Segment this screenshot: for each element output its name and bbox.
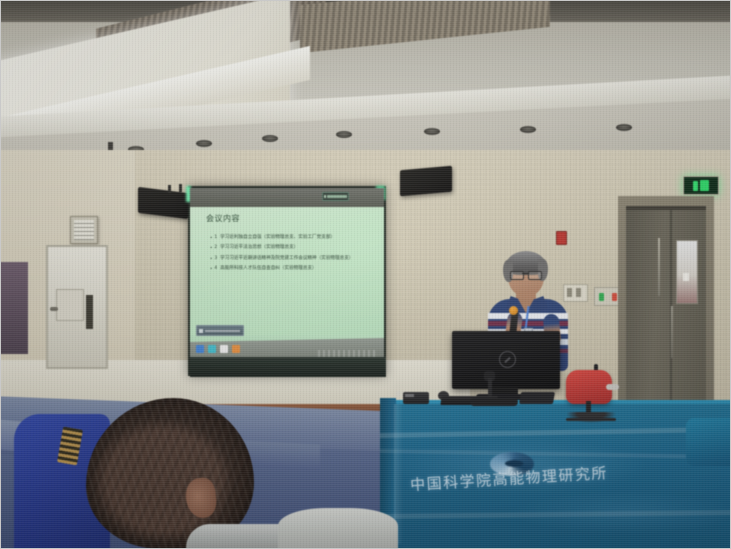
downlight-icon — [336, 131, 352, 138]
desk-phone[interactable] — [403, 392, 429, 404]
door-panel — [56, 289, 84, 321]
bullet-number: 1 — [214, 236, 217, 241]
wall-speaker-right — [400, 166, 452, 197]
desk-monitor — [452, 331, 560, 389]
list-item: • 1 学习近利独自立自强（实验物理总支、实验工厂党支部） — [210, 236, 382, 241]
chair-base — [566, 412, 616, 423]
presentation-top-bar — [190, 188, 384, 208]
bullet-text: 学习习近平法治思想（实验物理总支） — [220, 246, 298, 251]
bullet-text: 学习习近平近期讲话精神及院党建工作会议精神（实验物理总支） — [220, 257, 353, 262]
fire-alarm-icon[interactable] — [556, 231, 567, 245]
bullet-marker: • — [210, 236, 212, 240]
system-tray[interactable] — [318, 350, 376, 357]
downlight-icon — [616, 124, 632, 131]
bullet-text: 学习近利独自立自强（实验物理总支、实验工厂党支部） — [220, 236, 335, 241]
speaker-bracket — [168, 185, 171, 193]
taskbar-icon-3[interactable] — [220, 345, 228, 353]
presentation-tool-badge[interactable] — [322, 192, 349, 201]
microphone-base — [470, 398, 518, 406]
bullet-marker: • — [210, 246, 212, 250]
downlight-icon — [196, 140, 212, 147]
taskbar-icons[interactable] — [196, 345, 240, 353]
downlight-icon — [424, 128, 440, 135]
speaker-bracket — [179, 184, 182, 192]
slide-bullet-list: • 1 学习近利独自立自强（实验物理总支、实验工厂党支部） • 2 学习习近平法… — [210, 236, 382, 278]
door-window — [676, 240, 698, 304]
bullet-number: 4 — [214, 267, 217, 272]
bullet-marker: • — [210, 257, 212, 261]
audience-member-foreground — [278, 508, 398, 549]
slide-title: 会议内容 — [206, 213, 240, 224]
chair-armrest — [606, 384, 619, 390]
left-curtain — [0, 262, 28, 354]
downlight-icon — [520, 126, 536, 133]
list-item: • 3 学习习近平近期讲话精神及院党建工作会议精神（实验物理总支） — [210, 257, 382, 262]
list-item: • 4 高能所科技人才队伍自查自纠（实验物理总支） — [210, 267, 382, 272]
door-handle-icon[interactable] — [658, 238, 660, 296]
screen-bottom-shadow — [190, 357, 386, 377]
downlight-icon — [262, 135, 278, 142]
meeting-room-door[interactable] — [626, 206, 706, 432]
taskbar-icon-4[interactable] — [232, 345, 240, 353]
desk-equipment — [519, 392, 555, 404]
running-man-icon — [693, 181, 698, 191]
glasses-bridge — [522, 273, 528, 274]
door-handle-icon[interactable] — [50, 307, 58, 311]
taskbar-icon-1[interactable] — [196, 345, 204, 353]
exit-sign — [683, 176, 719, 195]
taskbar-icon-2[interactable] — [208, 345, 216, 353]
dell-logo-icon — [499, 351, 516, 368]
window-title-bar — [205, 330, 240, 332]
left-side-door[interactable] — [46, 245, 108, 369]
side-chair[interactable] — [686, 418, 731, 466]
microphone-head-icon — [509, 306, 518, 315]
glasses-icon — [528, 271, 542, 280]
bullet-number: 2 — [214, 246, 217, 251]
door-gap — [86, 295, 93, 329]
window-icon — [199, 329, 203, 333]
conference-room-photo: 会议内容 • 1 学习近利独自立自强（实验物理总支、实验工厂党支部） • 2 学… — [0, 0, 731, 549]
list-item: • 2 学习习近平法治思想（实验物理总支） — [210, 246, 382, 251]
door-notice — [683, 273, 689, 281]
bullet-text: 高能所科技人才队伍自查自纠（实验物理总支） — [220, 267, 316, 272]
bullet-marker: • — [210, 267, 212, 271]
wall-clock — [70, 216, 98, 244]
gooseneck-microphone-stand — [488, 378, 492, 400]
exit-door-icon — [700, 180, 709, 191]
door-handle-icon[interactable] — [671, 306, 673, 358]
bullet-number: 3 — [214, 257, 217, 262]
taskbar-window-button[interactable] — [196, 325, 244, 336]
